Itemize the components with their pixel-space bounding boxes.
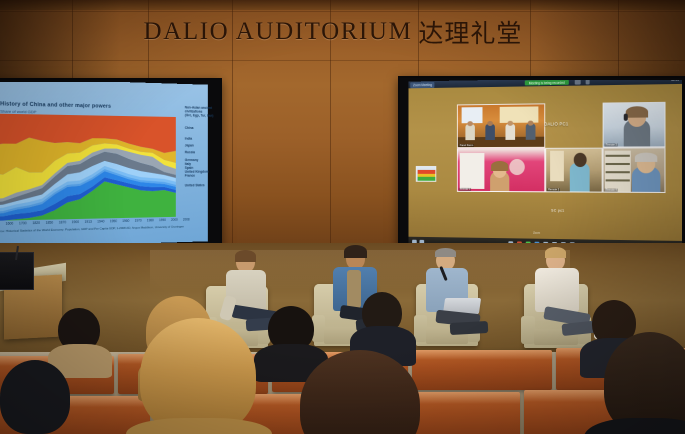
legend-entry: France [185, 173, 218, 177]
zoom-window-tab[interactable]: Zoom Meeting [410, 81, 434, 87]
legend-entry: China [185, 126, 218, 131]
x-axis-tick: 1950 [110, 219, 122, 223]
x-axis-tick: 1700 [19, 221, 31, 225]
x-axis-tick: 1900 [72, 220, 84, 224]
legend-entry: India [185, 136, 218, 140]
chart-legend: Non-Asian ancient civilizations (Grc, Eg… [185, 105, 218, 187]
auditorium-sign-text-cn: 达理礼堂 [418, 14, 522, 50]
x-axis-tick: 1940 [97, 219, 109, 223]
video-tile-remote-3[interactable]: Remote 3 [603, 102, 666, 148]
legend-header-line-3: (Grc, Egp, Tur, Iran) [185, 114, 218, 119]
x-axis-tick: 1970 [135, 218, 146, 222]
x-axis-tick: 1980 [147, 218, 158, 222]
video-tile-label: Remote 2 [547, 188, 560, 191]
seat-back [412, 350, 552, 390]
recording-indicator: Meeting is being recorded [525, 80, 569, 85]
video-tile-label: Remote 1 [459, 188, 472, 191]
stacked-area-chart [0, 114, 176, 221]
video-tile-panel-room[interactable]: Panel Room [457, 103, 545, 148]
video-tile-remote-4[interactable]: Remote 4 [603, 147, 666, 193]
taskbar-note: Zoom [533, 231, 540, 235]
video-tile-remote-2[interactable]: Remote 2 [545, 148, 602, 193]
system-clock: 10:41 [671, 80, 679, 82]
x-axis-tick: 1820 [32, 221, 44, 225]
x-axis-tick: 1500 [0, 222, 4, 226]
sc-pc-label: SC pc1 [551, 209, 564, 213]
windows-desktop: Zoom Meeting Meeting is being recorded 1… [408, 80, 682, 248]
legend-entry: Japan [185, 143, 218, 147]
legend-entries: ChinaIndiaJapanRussiaGermanyItalySpainUn… [185, 126, 218, 188]
titlebar-control[interactable] [574, 80, 580, 85]
x-axis-tick: 1990 [159, 218, 170, 222]
desktop-thumbnail-icon[interactable] [416, 166, 436, 182]
chart-svg [0, 114, 176, 221]
video-tile-label: Remote 3 [605, 143, 618, 146]
x-axis-tick: 1870 [59, 220, 71, 224]
auditorium-photo: DALIO AUDITORIUM 达理礼堂 History of China a… [0, 0, 685, 434]
legend-entry: United States [185, 183, 218, 187]
video-tile-label: Panel Room [459, 144, 474, 147]
right-screen-surface: Zoom Meeting Meeting is being recorded 1… [402, 80, 682, 248]
auditorium-sign-text-en: DALIO AUDITORIUM [144, 18, 413, 46]
right-projection-screen: Zoom Meeting Meeting is being recorded 1… [398, 76, 685, 252]
video-tile-label: Remote 4 [605, 189, 618, 192]
x-axis-tick: 1960 [122, 219, 133, 223]
auditorium-sign: DALIO AUDITORIUM 达理礼堂 [133, 14, 533, 50]
dalio-pc-label: DALIO PC1 [544, 121, 568, 126]
x-axis-tick: 1913 [85, 220, 97, 224]
x-axis-tick: 2000 [171, 218, 182, 222]
gdp-share-slide: History of China and other major powers … [0, 82, 208, 244]
left-screen-surface: History of China and other major powers … [0, 82, 218, 244]
video-tile-remote-1[interactable]: Remote 1 [457, 148, 545, 192]
chart-footnote: Source: Historical Statistics of the Wor… [0, 224, 200, 233]
left-projection-screen: History of China and other major powers … [0, 78, 222, 248]
x-axis-tick: 1600 [5, 221, 17, 225]
x-axis-tick: 1850 [46, 220, 58, 224]
zoom-video-grid: Panel Room Remote 1 [457, 102, 643, 185]
x-axis-tick: 2008 [183, 217, 194, 221]
titlebar-control[interactable] [585, 80, 589, 84]
moderator [424, 250, 498, 344]
zoom-window-titlebar: Zoom Meeting Meeting is being recorded 1… [408, 80, 682, 88]
legend-entry: Russia [185, 150, 218, 154]
